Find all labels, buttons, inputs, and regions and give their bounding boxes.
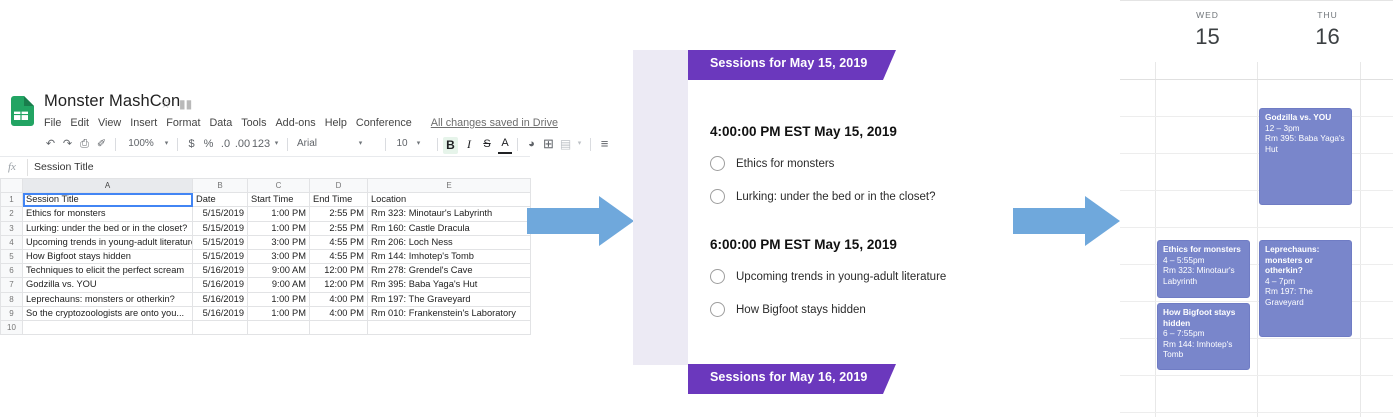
cell-e3[interactable]: Rm 160: Castle Dracula bbox=[368, 221, 531, 235]
save-status-link[interactable]: All changes saved in Drive bbox=[431, 117, 558, 129]
calendar-day-number: 15 bbox=[1155, 24, 1260, 50]
formula-bar: fx Session Title bbox=[0, 156, 530, 179]
cell-a3[interactable]: Lurking: under the bed or in the closet? bbox=[23, 221, 193, 235]
row-header-8[interactable]: 8 bbox=[1, 292, 23, 306]
row-header-9[interactable]: 9 bbox=[1, 306, 23, 320]
currency-format-button[interactable]: $ bbox=[183, 133, 200, 155]
event-title: Leprechauns: monsters or otherkin? bbox=[1265, 244, 1347, 276]
addon-sidebar-strip bbox=[633, 50, 688, 365]
sessions-banner-may-15: Sessions for May 15, 2019 bbox=[688, 50, 903, 80]
cell-b1[interactable]: Date bbox=[193, 193, 248, 207]
column-header-d[interactable]: D bbox=[310, 179, 368, 193]
decrease-decimal-button[interactable]: .0 bbox=[217, 133, 234, 155]
event-location: Rm 323: Minotaur's Labyrinth bbox=[1163, 265, 1245, 286]
event-location: Rm 395: Baba Yaga's Hut bbox=[1265, 133, 1347, 154]
cell-e5[interactable]: Rm 144: Imhotep's Tomb bbox=[368, 250, 531, 264]
cell-b5[interactable]: 5/15/2019 bbox=[193, 250, 248, 264]
cell-e1[interactable]: Location bbox=[368, 193, 531, 207]
table-row[interactable]: 6 Techniques to elicit the perfect screa… bbox=[1, 264, 531, 278]
number-format-button[interactable]: 123 bbox=[251, 133, 271, 155]
fill-color-icon[interactable]: ◕ bbox=[523, 133, 540, 155]
calendar-hour-line bbox=[1120, 190, 1393, 191]
calendar-hour-line bbox=[1120, 153, 1393, 154]
session-group-4pm: 4:00:00 PM EST May 15, 2019 Ethics for m… bbox=[710, 124, 935, 204]
toolbar-divider bbox=[517, 138, 518, 151]
row-header-7[interactable]: 7 bbox=[1, 278, 23, 292]
font-size-value[interactable]: 10 bbox=[391, 133, 413, 155]
radio-button-icon[interactable] bbox=[710, 302, 725, 317]
cell-e9[interactable]: Rm 010: Frankenstein's Laboratory bbox=[368, 306, 531, 320]
cell-d3[interactable]: 2:55 PM bbox=[310, 221, 368, 235]
google-sheets-logo-icon bbox=[8, 96, 34, 126]
session-option[interactable]: Ethics for monsters bbox=[710, 156, 935, 171]
spreadsheet-table: A B C D E 1 Session Title Date Start Tim… bbox=[0, 178, 531, 335]
cell-b9[interactable]: 5/16/2019 bbox=[193, 306, 248, 320]
menu-bar: FileEditViewInsertFormatDataToolsAdd-ons… bbox=[44, 113, 567, 129]
text-color-button[interactable]: A bbox=[498, 137, 512, 154]
cell-d5[interactable]: 4:55 PM bbox=[310, 250, 368, 264]
cell-a5[interactable]: How Bigfoot stays hidden bbox=[23, 250, 193, 264]
table-row[interactable]: 5 How Bigfoot stays hidden 5/15/2019 3:0… bbox=[1, 250, 531, 264]
cell-d6[interactable]: 12:00 PM bbox=[310, 264, 368, 278]
table-row[interactable]: 4 Upcoming trends in young-adult literat… bbox=[1, 235, 531, 249]
cell-b3[interactable]: 5/15/2019 bbox=[193, 221, 248, 235]
table-row[interactable]: 2 Ethics for monsters 5/15/2019 1:00 PM … bbox=[1, 207, 531, 221]
row-header-1[interactable]: 1 bbox=[1, 193, 23, 207]
bold-button[interactable]: B bbox=[443, 137, 458, 154]
cell-a10[interactable] bbox=[23, 321, 193, 335]
session-option[interactable]: Upcoming trends in young-adult literatur… bbox=[710, 269, 946, 284]
event-time: 4 – 7pm bbox=[1265, 276, 1347, 287]
cell-b4[interactable]: 5/15/2019 bbox=[193, 235, 248, 249]
spreadsheet-grid[interactable]: A B C D E 1 Session Title Date Start Tim… bbox=[0, 178, 530, 335]
borders-icon[interactable]: ⊞ bbox=[540, 133, 557, 155]
cell-d2[interactable]: 2:55 PM bbox=[310, 207, 368, 221]
cell-a2[interactable]: Ethics for monsters bbox=[23, 207, 193, 221]
calendar-event-leprechauns[interactable]: Leprechauns: monsters or otherkin? 4 – 7… bbox=[1259, 240, 1352, 337]
cell-c5[interactable]: 3:00 PM bbox=[248, 250, 310, 264]
menu-item-file[interactable]: File bbox=[44, 117, 61, 129]
font-family-value[interactable]: Arial bbox=[293, 133, 355, 155]
cell-c3[interactable]: 1:00 PM bbox=[248, 221, 310, 235]
cell-d1[interactable]: End Time bbox=[310, 193, 368, 207]
menu-item-tools[interactable]: Tools bbox=[241, 117, 266, 129]
zoom-level-value[interactable]: 100% bbox=[121, 133, 161, 155]
calendar-hour-line bbox=[1120, 412, 1393, 413]
session-option-label: Upcoming trends in young-adult literatur… bbox=[736, 271, 946, 283]
paint-format-icon[interactable]: ✐ bbox=[93, 133, 110, 155]
banner-tip bbox=[883, 364, 896, 394]
google-calendar-panel: WED 15 THU 16 Godzilla vs. YOU 12 – 3pm … bbox=[1120, 0, 1393, 417]
calendar-day-number: 16 bbox=[1275, 24, 1380, 50]
event-title: Godzilla vs. YOU bbox=[1265, 112, 1347, 123]
event-time: 6 – 7:55pm bbox=[1163, 328, 1245, 339]
event-location: Rm 144: Imhotep's Tomb bbox=[1163, 339, 1245, 360]
calendar-day-of-week: WED bbox=[1155, 10, 1260, 20]
cell-e8[interactable]: Rm 197: The Graveyard bbox=[368, 292, 531, 306]
calendar-hour-line bbox=[1120, 227, 1393, 228]
flow-arrow-2 bbox=[1013, 196, 1120, 246]
calendar-day-of-week: THU bbox=[1275, 10, 1380, 20]
calendar-hour-line bbox=[1120, 79, 1393, 80]
calendar-day-header-wed[interactable]: WED 15 bbox=[1155, 10, 1260, 50]
cell-d8[interactable]: 4:00 PM bbox=[310, 292, 368, 306]
menu-item-insert[interactable]: Insert bbox=[130, 117, 157, 129]
column-header-b[interactable]: B bbox=[193, 179, 248, 193]
menu-item-conference[interactable]: Conference bbox=[356, 117, 412, 129]
session-option[interactable]: How Bigfoot stays hidden bbox=[710, 302, 946, 317]
column-header-c[interactable]: C bbox=[248, 179, 310, 193]
calendar-hour-line bbox=[1120, 375, 1393, 376]
row-header-6[interactable]: 6 bbox=[1, 264, 23, 278]
font-family-chevron-down-icon[interactable]: ▾ bbox=[355, 133, 366, 155]
table-row[interactable]: 9 So the cryptozoologists are onto you..… bbox=[1, 306, 531, 320]
cell-d9[interactable]: 4:00 PM bbox=[310, 306, 368, 320]
calendar-event-ethics[interactable]: Ethics for monsters 4 – 5:55pm Rm 323: M… bbox=[1157, 240, 1250, 298]
table-row[interactable]: 7 Godzilla vs. YOU 5/16/2019 9:00 AM 12:… bbox=[1, 278, 531, 292]
session-option-label: How Bigfoot stays hidden bbox=[736, 304, 866, 316]
row-header-2[interactable]: 2 bbox=[1, 207, 23, 221]
cell-e4[interactable]: Rm 206: Loch Ness bbox=[368, 235, 531, 249]
session-option[interactable]: Lurking: under the bed or in the closet? bbox=[710, 189, 935, 204]
event-time: 4 – 5:55pm bbox=[1163, 255, 1245, 266]
cell-c6[interactable]: 9:00 AM bbox=[248, 264, 310, 278]
cell-b6[interactable]: 5/16/2019 bbox=[193, 264, 248, 278]
session-time-heading: 4:00:00 PM EST May 15, 2019 bbox=[710, 124, 935, 139]
toolbar-divider bbox=[177, 138, 178, 151]
radio-button-icon[interactable] bbox=[710, 269, 725, 284]
number-format-chevron-down-icon[interactable]: ▾ bbox=[271, 133, 282, 155]
menu-item-edit[interactable]: Edit bbox=[70, 117, 89, 129]
event-title: Ethics for monsters bbox=[1163, 244, 1245, 255]
formula-bar-divider bbox=[27, 159, 28, 176]
sheets-header: Monster MashCon ☆ ▮▮ FileEditViewInsertF… bbox=[0, 92, 530, 136]
menu-item-view[interactable]: View bbox=[98, 117, 121, 129]
cell-c9[interactable]: 1:00 PM bbox=[248, 306, 310, 320]
calendar-top-divider bbox=[1120, 0, 1393, 1]
column-header-a[interactable]: A bbox=[23, 179, 193, 193]
merge-chevron-down-icon[interactable]: ▾ bbox=[574, 133, 585, 155]
flow-arrow-1 bbox=[527, 196, 634, 246]
corner-select-all-button[interactable] bbox=[1, 179, 23, 193]
merge-cells-icon[interactable]: ▤ bbox=[557, 133, 574, 155]
cell-a6[interactable]: Techniques to elicit the perfect scream bbox=[23, 264, 193, 278]
radio-button-icon[interactable] bbox=[710, 189, 725, 204]
radio-button-icon[interactable] bbox=[710, 156, 725, 171]
session-option-label: Ethics for monsters bbox=[736, 158, 834, 170]
cell-d4[interactable]: 4:55 PM bbox=[310, 235, 368, 249]
cell-b8[interactable]: 5/16/2019 bbox=[193, 292, 248, 306]
undo-icon[interactable]: ↶ bbox=[42, 133, 59, 155]
cell-c10[interactable] bbox=[248, 321, 310, 335]
align-icon[interactable]: ≡ bbox=[596, 133, 613, 155]
toolbar-divider bbox=[385, 138, 386, 151]
menu-item-addons[interactable]: Add-ons bbox=[275, 117, 315, 129]
cell-e6[interactable]: Rm 278: Grendel's Cave bbox=[368, 264, 531, 278]
sheets-toolbar: ↶↷⎙✐100%▾$%.0.00123▾Arial▾10▾BISA◕⊞▤▾≡ bbox=[0, 133, 530, 155]
cell-a1[interactable]: Session Title bbox=[23, 193, 193, 207]
cell-c4[interactable]: 3:00 PM bbox=[248, 235, 310, 249]
toolbar-divider bbox=[590, 138, 591, 151]
cell-b7[interactable]: 5/16/2019 bbox=[193, 278, 248, 292]
event-location: Rm 197: The Graveyard bbox=[1265, 286, 1347, 307]
italic-button[interactable]: I bbox=[462, 133, 476, 155]
cell-a7[interactable]: Godzilla vs. YOU bbox=[23, 278, 193, 292]
cell-a4[interactable]: Upcoming trends in young-adult literatur… bbox=[23, 235, 193, 249]
banner-label: Sessions for May 15, 2019 bbox=[710, 56, 867, 70]
cell-e2[interactable]: Rm 323: Minotaur's Labyrinth bbox=[368, 207, 531, 221]
cell-e7[interactable]: Rm 395: Baba Yaga's Hut bbox=[368, 278, 531, 292]
percent-format-button[interactable]: % bbox=[200, 133, 217, 155]
sessions-addon-panel: Sessions for May 15, 2019 4:00:00 PM EST… bbox=[633, 18, 923, 373]
row-header-3[interactable]: 3 bbox=[1, 221, 23, 235]
cell-b10[interactable] bbox=[193, 321, 248, 335]
session-group-6pm: 6:00:00 PM EST May 15, 2019 Upcoming tre… bbox=[710, 237, 946, 317]
banner-label: Sessions for May 16, 2019 bbox=[710, 370, 867, 384]
menu-item-format[interactable]: Format bbox=[166, 117, 200, 129]
google-sheets-panel: Monster MashCon ☆ ▮▮ FileEditViewInsertF… bbox=[0, 92, 530, 320]
formula-bar-input[interactable]: Session Title bbox=[34, 161, 94, 173]
calendar-hour-line bbox=[1120, 301, 1393, 302]
toolbar-divider bbox=[115, 138, 116, 151]
table-row[interactable]: 1 Session Title Date Start Time End Time… bbox=[1, 193, 531, 207]
session-option-label: Lurking: under the bed or in the closet? bbox=[736, 191, 935, 203]
zoom-chevron-down-icon[interactable]: ▾ bbox=[161, 133, 172, 155]
menu-item-help[interactable]: Help bbox=[325, 117, 347, 129]
cell-d7[interactable]: 12:00 PM bbox=[310, 278, 368, 292]
column-header-e[interactable]: E bbox=[368, 179, 531, 193]
cell-a9[interactable]: So the cryptozoologists are onto you... bbox=[23, 306, 193, 320]
calendar-hour-line bbox=[1120, 116, 1393, 117]
calendar-day-header-thu[interactable]: THU 16 bbox=[1275, 10, 1380, 50]
row-header-10[interactable]: 10 bbox=[1, 321, 23, 335]
cell-a8[interactable]: Leprechauns: monsters or otherkin? bbox=[23, 292, 193, 306]
font-size-chevron-down-icon[interactable]: ▾ bbox=[413, 133, 424, 155]
table-row[interactable]: 3 Lurking: under the bed or in the close… bbox=[1, 221, 531, 235]
table-row[interactable]: 8 Leprechauns: monsters or otherkin? 5/1… bbox=[1, 292, 531, 306]
cell-c7[interactable]: 9:00 AM bbox=[248, 278, 310, 292]
sessions-banner-may-16: Sessions for May 16, 2019 bbox=[688, 364, 903, 394]
session-time-heading: 6:00:00 PM EST May 15, 2019 bbox=[710, 237, 946, 252]
addon-content-area bbox=[688, 50, 916, 365]
column-header-row: A B C D E bbox=[1, 179, 531, 193]
redo-icon[interactable]: ↷ bbox=[59, 133, 76, 155]
toolbar-divider bbox=[287, 138, 288, 151]
event-time: 12 – 3pm bbox=[1265, 123, 1347, 134]
cell-b2[interactable]: 5/15/2019 bbox=[193, 207, 248, 221]
table-row[interactable]: 10 bbox=[1, 321, 531, 335]
folder-icon[interactable]: ▮▮ bbox=[179, 97, 192, 111]
cell-c1[interactable]: Start Time bbox=[248, 193, 310, 207]
calendar-event-bigfoot[interactable]: How Bigfoot stays hidden 6 – 7:55pm Rm 1… bbox=[1157, 303, 1250, 370]
print-icon[interactable]: ⎙ bbox=[76, 133, 93, 155]
calendar-event-godzilla[interactable]: Godzilla vs. YOU 12 – 3pm Rm 395: Baba Y… bbox=[1259, 108, 1352, 205]
toolbar-divider bbox=[437, 138, 438, 151]
row-header-5[interactable]: 5 bbox=[1, 250, 23, 264]
event-title: How Bigfoot stays hidden bbox=[1163, 307, 1245, 328]
menu-item-data[interactable]: Data bbox=[209, 117, 232, 129]
star-icon[interactable]: ☆ bbox=[160, 97, 171, 111]
cell-c2[interactable]: 1:00 PM bbox=[248, 207, 310, 221]
cell-c8[interactable]: 1:00 PM bbox=[248, 292, 310, 306]
increase-decimal-button[interactable]: .00 bbox=[234, 133, 251, 155]
row-header-4[interactable]: 4 bbox=[1, 235, 23, 249]
cell-e10[interactable] bbox=[368, 321, 531, 335]
strikethrough-button[interactable]: S bbox=[480, 133, 494, 155]
banner-tip bbox=[883, 50, 896, 80]
fx-icon: fx bbox=[8, 161, 16, 173]
cell-d10[interactable] bbox=[310, 321, 368, 335]
